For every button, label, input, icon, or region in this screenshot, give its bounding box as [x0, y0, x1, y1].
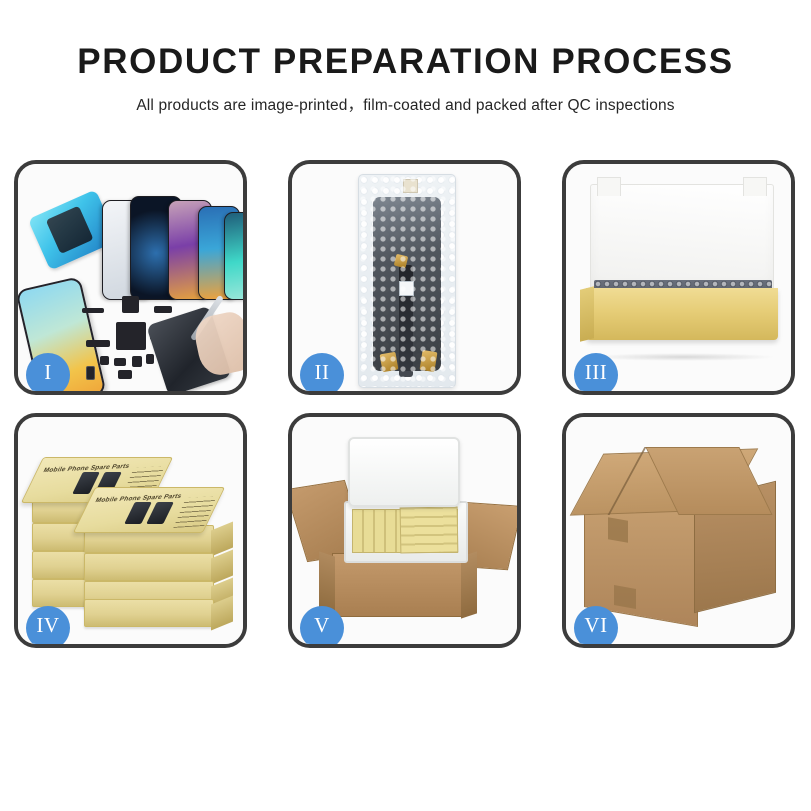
gold-connector-icon	[154, 306, 172, 313]
white-box-lid	[590, 184, 774, 294]
process-step-panel-3: III	[562, 160, 795, 395]
sim-tray-icon	[86, 366, 95, 380]
step-badge-4: IV	[26, 606, 70, 648]
wrapped-gold-contact-left	[380, 352, 399, 373]
camera-module-icon	[114, 358, 126, 366]
step-badge-3: III	[574, 353, 618, 395]
box-spec-lines	[173, 496, 216, 528]
page-header: PRODUCT PREPARATION PROCESS All products…	[0, 0, 811, 115]
process-step-panel-5: V	[288, 413, 521, 648]
box-screen-image	[146, 502, 174, 524]
metal-bracket-icon	[146, 354, 154, 364]
earpiece-mesh-icon	[118, 370, 132, 379]
step-badge-1: I	[26, 353, 70, 395]
kraft-box-tray	[586, 288, 778, 340]
bubble-wrap-bag	[358, 174, 456, 388]
phone-screen-lineup	[102, 192, 247, 300]
wrapped-chip-module	[399, 281, 414, 296]
foam-liner-lid	[348, 437, 460, 507]
bag-seal-tab	[403, 179, 418, 193]
step-badge-2: II	[300, 353, 344, 395]
process-step-panel-1: I	[14, 160, 247, 395]
phone-screen-teal	[224, 212, 247, 300]
process-step-panel-2: II	[288, 160, 521, 395]
vibrator-motor-icon	[122, 296, 139, 313]
retail-box-top-front: Mobile Phone Spare Parts	[73, 487, 225, 533]
page-title: PRODUCT PREPARATION PROCESS	[0, 44, 811, 81]
connector-part-icon	[132, 356, 142, 367]
step-badge-5: V	[300, 606, 344, 648]
retail-box-stack: Mobile Phone Spare Parts Mobile Phone Sp…	[32, 441, 234, 625]
copper-shield-plate-icon	[116, 322, 146, 350]
process-step-panel-4: Mobile Phone Spare Parts Mobile Phone Sp…	[14, 413, 247, 648]
carton-tape-lower	[614, 585, 636, 609]
flex-cable-icon	[86, 340, 110, 347]
wrapped-gold-contact-right	[420, 350, 438, 372]
small-part-icon	[100, 356, 109, 365]
page-subtitle: All products are image-printed，film-coat…	[0, 93, 811, 115]
speaker-module-icon	[82, 308, 104, 313]
process-step-grid: I II III	[14, 160, 797, 648]
process-step-panel-6: VI	[562, 413, 795, 648]
step-badge-6: VI	[574, 606, 618, 648]
stacked-box	[84, 599, 214, 627]
packed-retail-boxes-right	[400, 506, 459, 553]
box-drop-shadow	[590, 353, 776, 361]
stacked-box	[84, 553, 214, 581]
carton-tape-upper	[608, 517, 628, 543]
